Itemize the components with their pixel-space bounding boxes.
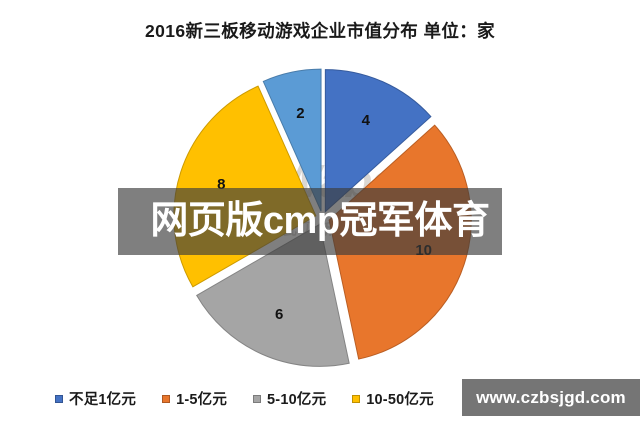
pie-chart: 410682 [150,68,495,368]
legend-item[interactable]: 10-50亿元 [352,388,434,409]
chart-legend: 不足1亿元1-5亿元5-10亿元10-50亿元 [0,388,640,409]
chart-title: 2016新三板移动游戏企业市值分布 单位：家 [0,18,640,43]
legend-label: 10-50亿元 [366,388,434,409]
legend-swatch-icon [253,395,261,403]
legend-swatch-icon [352,395,360,403]
legend-item[interactable]: 1-5亿元 [162,388,227,409]
pie-slice-label: 8 [217,176,225,193]
legend-swatch-icon [162,395,170,403]
legend-item[interactable]: 不足1亿元 [55,388,136,409]
legend-swatch-icon [55,395,63,403]
legend-label: 1-5亿元 [176,388,227,409]
chart-screenshot: 2016新三板移动游戏企业市值分布 单位：家 Wabei 瓦贝新三板研究院 41… [0,0,640,427]
pie-slice-label: 2 [296,105,304,122]
pie-chart-svg: 410682 [150,68,495,368]
legend-item[interactable]: 5-10亿元 [253,388,326,409]
pie-slice-label: 10 [415,242,432,259]
pie-slice-label: 6 [275,306,283,323]
pie-slice-label: 4 [362,112,371,129]
legend-label: 5-10亿元 [267,388,326,409]
pie-slice-group [174,69,471,366]
legend-label: 不足1亿元 [69,388,136,409]
